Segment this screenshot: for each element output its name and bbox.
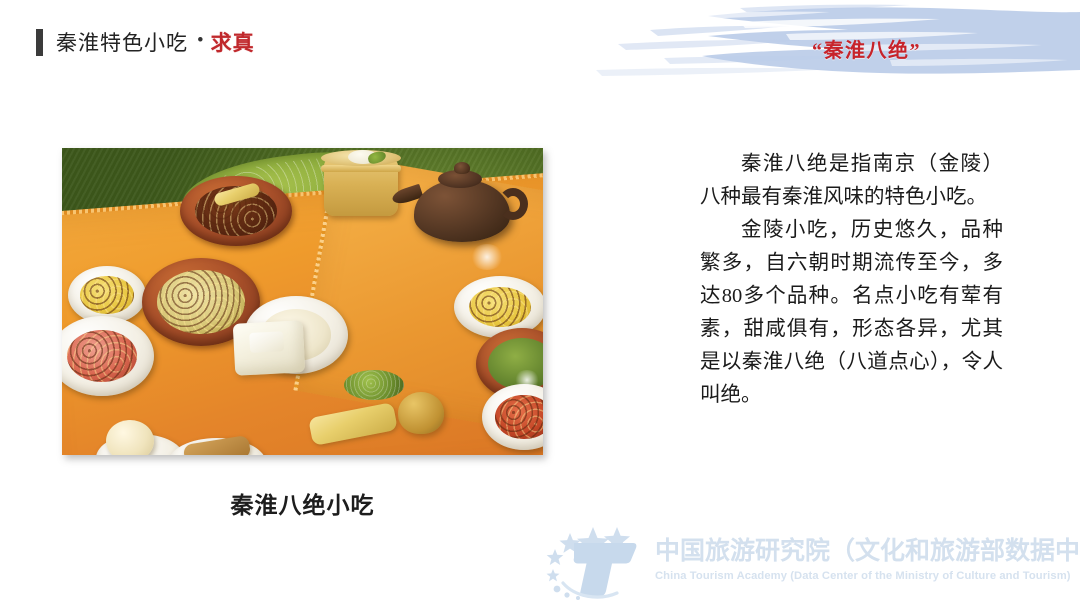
dish-fill	[495, 395, 543, 439]
title-separator-dot: •	[197, 30, 204, 52]
footer-text-block: 中国旅游研究院（文化和旅游部数据中心） China Tourism Academ…	[655, 525, 1080, 582]
tofu-block	[233, 320, 306, 376]
food-photo	[62, 148, 543, 455]
page-title-accent: 求真	[211, 27, 255, 57]
dish-braised-pork	[180, 176, 292, 246]
photo-caption: 秦淮八绝小吃	[62, 486, 543, 520]
body-paragraph-2: 金陵小吃，历史悠久，品种繁多，自六朝时期流传至今，多达80多个品种。名点小吃有荤…	[700, 214, 1003, 412]
center-green-garnish	[344, 370, 404, 400]
slide-canvas: 秦淮特色小吃 • 求真 “秦淮八绝”	[0, 0, 1080, 608]
teapot-knob	[454, 162, 470, 174]
photo-highlight-2	[514, 370, 540, 390]
title-accent-bar	[36, 29, 43, 56]
clay-teapot	[414, 180, 510, 242]
logo-icon	[533, 505, 651, 601]
banner-label: “秦淮八绝”	[812, 34, 921, 63]
dish-fill	[157, 270, 244, 333]
body-text: 秦淮八绝是指南京（金陵）八种最有秦淮风味的特色小吃。 金陵小吃，历史悠久，品种繁…	[700, 148, 1003, 412]
footer-watermark: 中国旅游研究院（文化和旅游部数据中心） China Tourism Academ…	[533, 503, 1080, 603]
bamboo-steamer	[324, 158, 398, 216]
food-photo-content	[62, 148, 543, 455]
footer-name-cn: 中国旅游研究院（文化和旅游部数据中心）	[655, 531, 1080, 567]
china-tourism-academy-logo	[533, 505, 651, 601]
photo-highlight	[470, 244, 504, 270]
footer-name-en: China Tourism Academy (Data Center of th…	[655, 570, 1080, 582]
teapot-handle	[498, 188, 528, 220]
dish-fill	[80, 276, 133, 314]
page-title: 秦淮特色小吃 • 求真	[36, 27, 255, 57]
body-paragraph-1: 秦淮八绝是指南京（金陵）八种最有秦淮风味的特色小吃。	[700, 148, 1003, 214]
dish-fill	[67, 330, 138, 383]
dish-fill	[469, 287, 532, 328]
page-title-main: 秦淮特色小吃	[56, 27, 188, 57]
brush-stroke-banner: “秦淮八绝”	[590, 0, 1080, 88]
salted-egg	[106, 420, 154, 455]
fried-bun	[398, 392, 444, 434]
